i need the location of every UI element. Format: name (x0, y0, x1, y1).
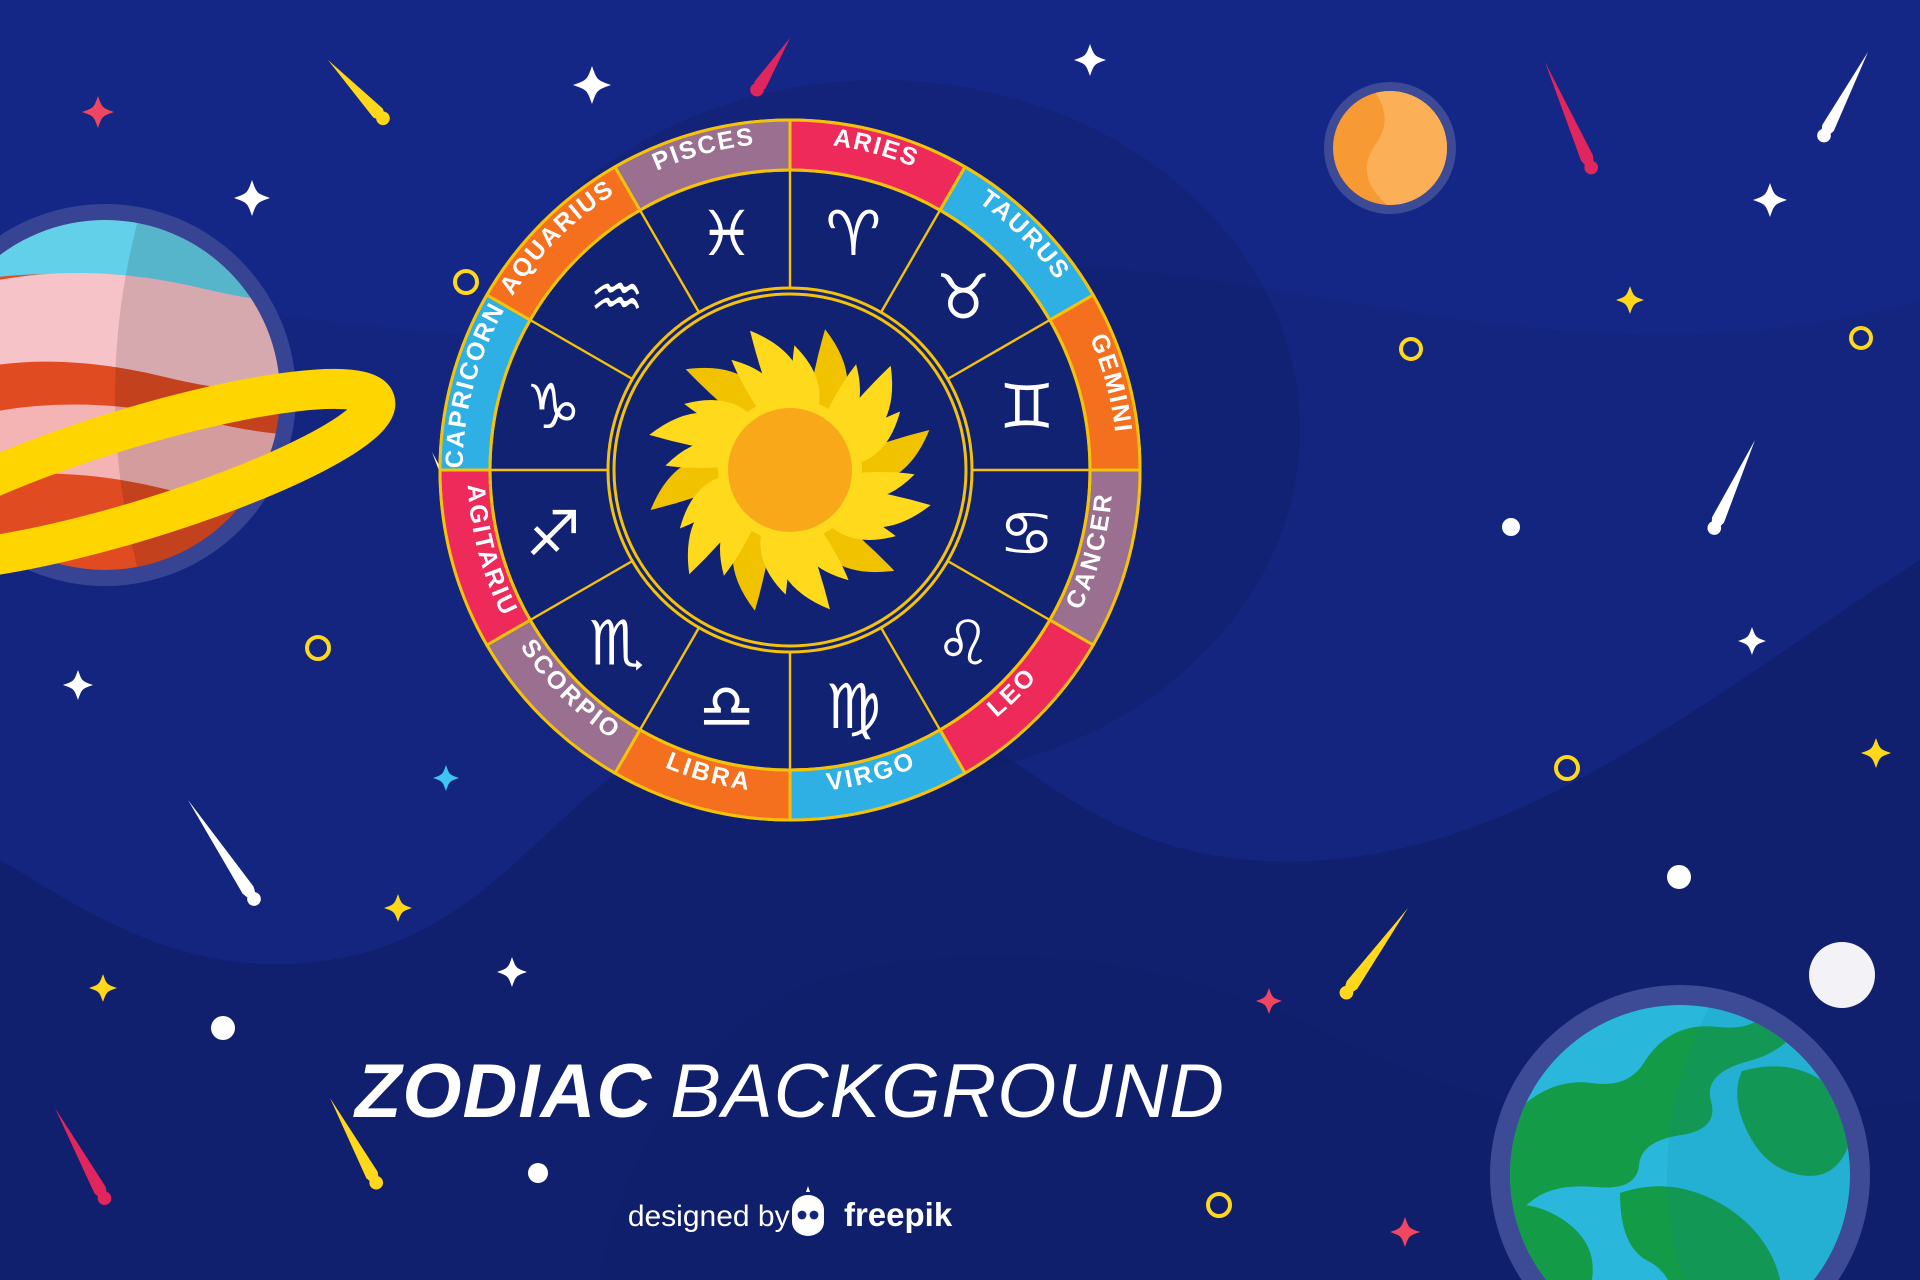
comet-white-midleft-head (247, 892, 261, 906)
wheel-glyph-libra: ♎ (699, 670, 755, 743)
dot-white-4 (528, 1163, 548, 1183)
comet-pink-top-head (750, 83, 764, 97)
wheel-glyph-leo: ♌ (935, 607, 991, 680)
credit-brand[interactable]: freepik (844, 1196, 953, 1233)
dot-white-3 (211, 1016, 235, 1040)
comet-pink-bottomleft-head (98, 1191, 112, 1205)
wheel-glyph-virgo: ♍ (826, 670, 882, 743)
wheel-glyph-capricorn: ♑ (526, 370, 582, 443)
wheel-glyph-pisces: ♓ (699, 197, 755, 270)
comet-white-topright-head (1817, 129, 1831, 143)
comet-yellow-topleft-head (376, 111, 390, 125)
page-title: ZODIACBACKGROUND (353, 1049, 1225, 1134)
comet-white-right-head (1707, 521, 1721, 535)
zodiac-poster: ARIES♈TAURUS♉GEMINI♊CANCER♋LEO♌VIRGO♍LIB… (0, 0, 1920, 1280)
freepik-mascot-head (792, 1195, 824, 1236)
moon (1809, 942, 1875, 1008)
comet-yellow-bottom-head (369, 1176, 383, 1190)
comet-pink-topright-head (1584, 161, 1598, 175)
wheel-glyph-cancer: ♋ (999, 497, 1055, 570)
page-title-light: BACKGROUND (670, 1049, 1225, 1134)
dot-white-2 (1667, 865, 1691, 889)
page-title-bold: ZODIAC (353, 1049, 652, 1134)
credit-line[interactable]: designed by freepik (628, 1196, 953, 1233)
credit-prefix: designed by (628, 1200, 798, 1233)
comet-yellow-right-head (1340, 986, 1354, 1000)
wheel-glyph-scorpio: ♏ (589, 607, 645, 680)
freepik-mascot-eye-right (810, 1211, 819, 1220)
space-scene: ARIES♈TAURUS♉GEMINI♊CANCER♋LEO♌VIRGO♍LIB… (0, 0, 1920, 1280)
dot-white-1 (1502, 518, 1520, 536)
sun-icon (649, 329, 930, 610)
sun-core (728, 408, 852, 532)
wheel-glyph-sagitarius: ♐ (526, 497, 582, 570)
wheel-glyph-aries: ♈ (826, 197, 882, 270)
wheel-glyph-gemini: ♊ (999, 370, 1055, 443)
wheel-glyph-aquarius: ♒ (589, 260, 645, 333)
wheel-glyph-taurus: ♉ (935, 260, 991, 333)
freepik-mascot-eye-left (798, 1211, 807, 1220)
